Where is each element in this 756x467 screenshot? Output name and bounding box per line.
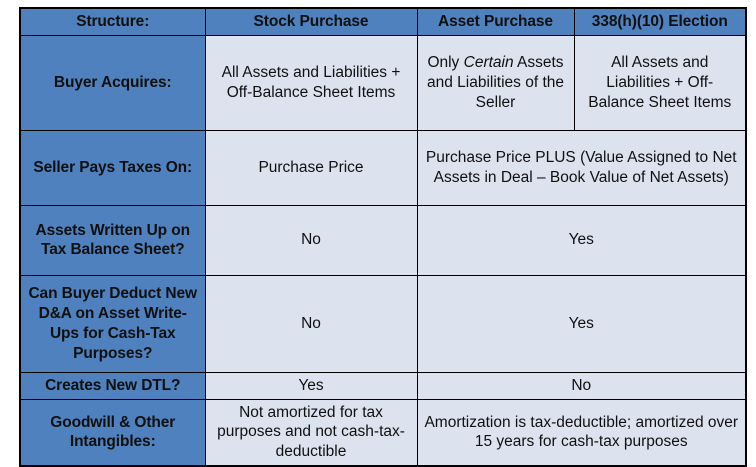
cell-creates-new-dtl-stock: Yes [205,372,417,399]
cell-text-prefix: Only [427,54,463,71]
row-label-seller-pays-taxes-on: Seller Pays Taxes On: [20,130,205,205]
row-label-buyer-acquires: Buyer Acquires: [20,35,205,130]
table-row: Assets Written Up on Tax Balance Sheet? … [20,205,746,275]
column-header-asset-purchase: Asset Purchase [417,8,574,35]
table-row: Can Buyer Deduct New D&A on Asset Write-… [20,275,746,372]
cell-assets-written-up-merged: Yes [417,205,746,275]
cell-buyer-acquires-asset: Only Certain Assets and Liabilities of t… [417,35,574,130]
row-label-buyer-deduct-da: Can Buyer Deduct New D&A on Asset Write-… [20,275,205,372]
column-header-structure: Structure: [20,8,205,35]
table-row: Seller Pays Taxes On: Purchase Price Pur… [20,130,746,205]
cell-buyer-acquires-stock: All Assets and Liabilities + Off-Balance… [205,35,417,130]
column-header-338-election: 338(h)(10) Election [574,8,746,35]
row-label-goodwill-intangibles: Goodwill & Other Intangibles: [20,399,205,466]
cell-goodwill-intangibles-merged: Amortization is tax-deductible; amortize… [417,399,746,466]
cell-seller-pays-taxes-merged: Purchase Price PLUS (Value Assigned to N… [417,130,746,205]
cell-assets-written-up-stock: No [205,205,417,275]
cell-buyer-deduct-da-stock: No [205,275,417,372]
column-header-stock-purchase: Stock Purchase [205,8,417,35]
cell-buyer-deduct-da-merged: Yes [417,275,746,372]
cell-goodwill-intangibles-stock: Not amortized for tax purposes and not c… [205,399,417,466]
ma-structure-comparison-table: Structure: Stock Purchase Asset Purchase… [19,7,747,467]
table-row: Creates New DTL? Yes No [20,372,746,399]
table-row: Buyer Acquires: All Assets and Liabiliti… [20,35,746,130]
table-row: Goodwill & Other Intangibles: Not amorti… [20,399,746,466]
cell-creates-new-dtl-merged: No [417,372,746,399]
table-header-row: Structure: Stock Purchase Asset Purchase… [20,8,746,35]
row-label-creates-new-dtl: Creates New DTL? [20,372,205,399]
cell-text-emphasis: Certain [464,54,514,71]
cell-seller-pays-taxes-stock: Purchase Price [205,130,417,205]
comparison-table-container: Structure: Stock Purchase Asset Purchase… [19,7,745,461]
cell-buyer-acquires-election: All Assets and Liabilities + Off-Balance… [574,35,746,130]
row-label-assets-written-up: Assets Written Up on Tax Balance Sheet? [20,205,205,275]
